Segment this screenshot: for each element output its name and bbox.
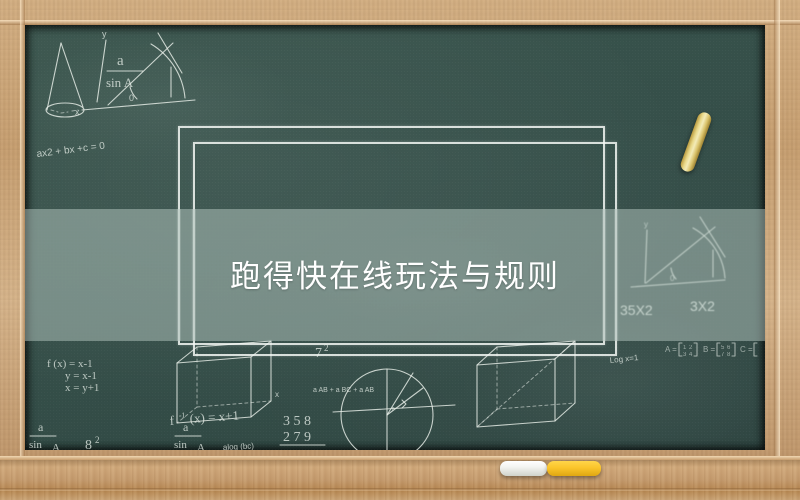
chalkboard-surface: a sin A y x 0 ax2 + bx +c = 0 [25,25,765,450]
ledge-shadow [0,460,800,467]
ledge-lower-groove [0,488,800,491]
chalkboard-banner: a sin A y x 0 ax2 + bx +c = 0 [0,0,800,500]
chalk-ledge [0,456,800,500]
ledge-white-chalk-icon [500,461,547,476]
frame-bevel-right [774,0,780,500]
ledge-yellow-chalk-icon [547,461,601,476]
page-title: 跑得快在线玩法与规则 [25,250,765,296]
